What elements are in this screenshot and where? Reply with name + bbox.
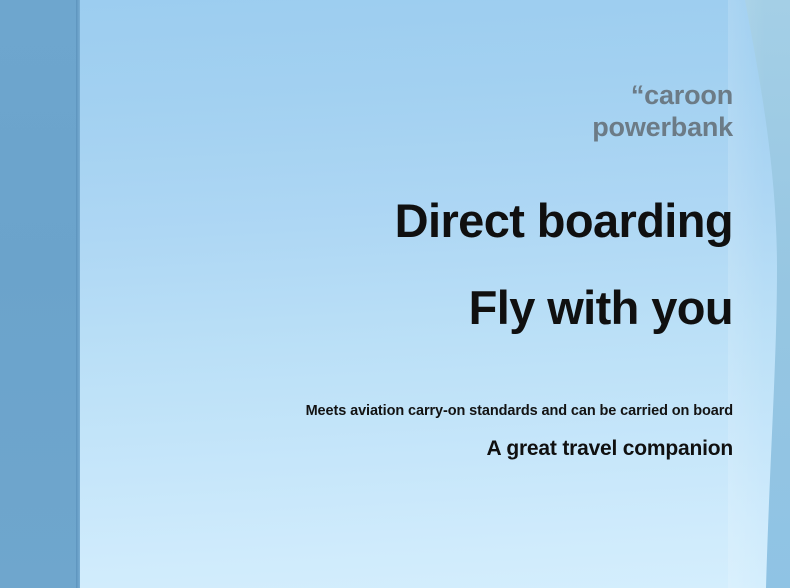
headline-primary: Direct boarding	[395, 196, 733, 245]
banner-content: “caroon powerbank Direct boarding Fly wi…	[80, 0, 733, 588]
left-accent-band	[0, 0, 80, 588]
tagline-text: A great travel companion	[487, 437, 733, 461]
brand-logo: “caroon powerbank	[592, 80, 733, 144]
product-banner: “caroon powerbank Direct boarding Fly wi…	[0, 0, 790, 588]
headline-secondary: Fly with you	[469, 283, 733, 332]
subline-text: Meets aviation carry-on standards and ca…	[306, 403, 733, 419]
